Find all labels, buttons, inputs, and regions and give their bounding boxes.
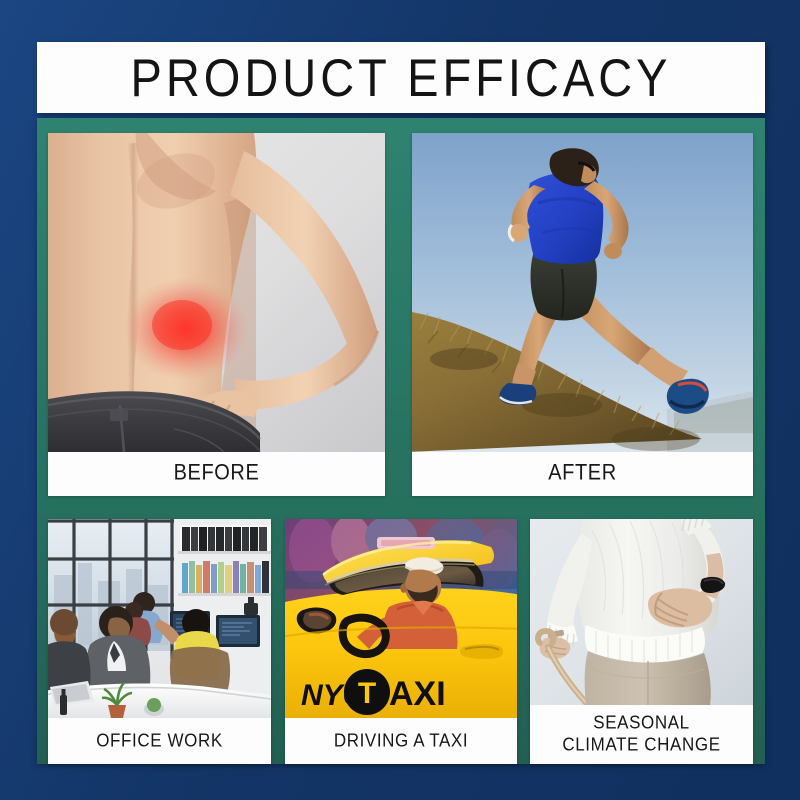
- panel-after-caption: AFTER: [412, 452, 753, 496]
- caption-label: BEFORE: [174, 461, 260, 487]
- poster-title-box: PRODUCT EFFICACY: [37, 42, 765, 113]
- man-running-uphill-photo: [412, 133, 753, 452]
- panel-office-work-caption: OFFICE WORK: [48, 718, 271, 764]
- panel-seasonal-climate-change: SEASONAL CLIMATE CHANGE: [530, 519, 753, 764]
- panel-before-caption: BEFORE: [48, 452, 385, 496]
- product-efficacy-poster: PRODUCT EFFICACY: [0, 0, 800, 800]
- caption-label: DRIVING A TAXI: [334, 730, 468, 752]
- caption-label: AFTER: [548, 461, 617, 487]
- panel-office-work: OFFICE WORK: [48, 519, 271, 764]
- man-with-lower-back-pain-photo: [48, 133, 385, 452]
- caption-line-1: SEASONAL: [593, 712, 689, 733]
- panel-after: AFTER: [412, 133, 753, 496]
- panel-driving-a-taxi: NYC T AXI DRIVING A TAXI: [285, 519, 517, 764]
- page-title: PRODUCT EFFICACY: [131, 47, 672, 109]
- office-workers-at-desks-photo: [48, 519, 271, 718]
- nyc-taxi-driver-photo: NYC T AXI: [285, 519, 517, 718]
- panel-before: BEFORE: [48, 133, 385, 496]
- panel-seasonal-climate-change-caption: SEASONAL CLIMATE CHANGE: [530, 705, 753, 764]
- caption-label: SEASONAL CLIMATE CHANGE: [562, 712, 720, 756]
- taxi-axi-text: AXI: [389, 675, 446, 713]
- taxi-t-letter: T: [358, 677, 376, 710]
- caption-label: OFFICE WORK: [96, 730, 223, 752]
- elderly-person-back-pain-with-cane-photo: [530, 519, 753, 705]
- caption-line-2: CLIMATE CHANGE: [562, 735, 720, 756]
- panel-driving-a-taxi-caption: DRIVING A TAXI: [285, 718, 517, 764]
